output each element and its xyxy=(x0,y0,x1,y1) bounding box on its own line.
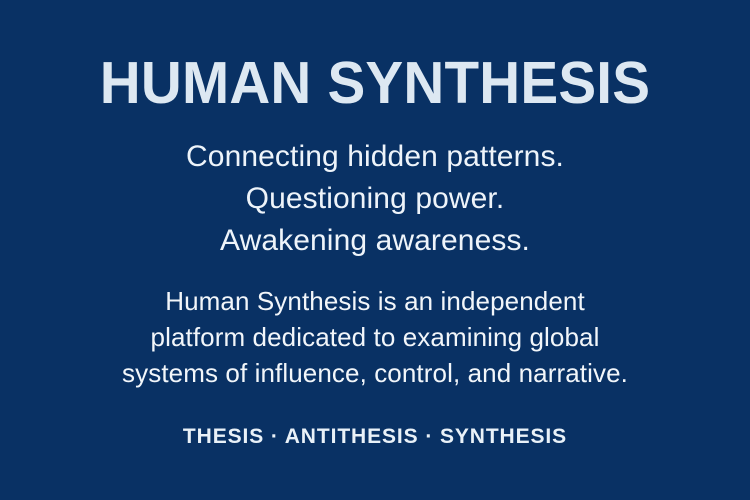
motto-line: THESIS · ANTITHESIS · SYNTHESIS xyxy=(0,424,750,450)
tagline-line-2: Questioning power. xyxy=(0,178,750,220)
about-paragraph: Human Synthesis is an independent platfo… xyxy=(0,283,750,391)
tagline-line-3: Awakening awareness. xyxy=(0,220,750,262)
about-line-3: systems of influence, control, and narra… xyxy=(0,355,750,391)
about-line-1: Human Synthesis is an independent xyxy=(0,283,750,319)
about-line-2: platform dedicated to examining global xyxy=(0,319,750,355)
brand-banner: HUMAN SYNTHESIS Connecting hidden patter… xyxy=(0,0,750,500)
tagline-line-1: Connecting hidden patterns. xyxy=(0,136,750,178)
tagline-block: Connecting hidden patterns. Questioning … xyxy=(0,136,750,262)
page-title: HUMAN SYNTHESIS xyxy=(15,52,735,114)
